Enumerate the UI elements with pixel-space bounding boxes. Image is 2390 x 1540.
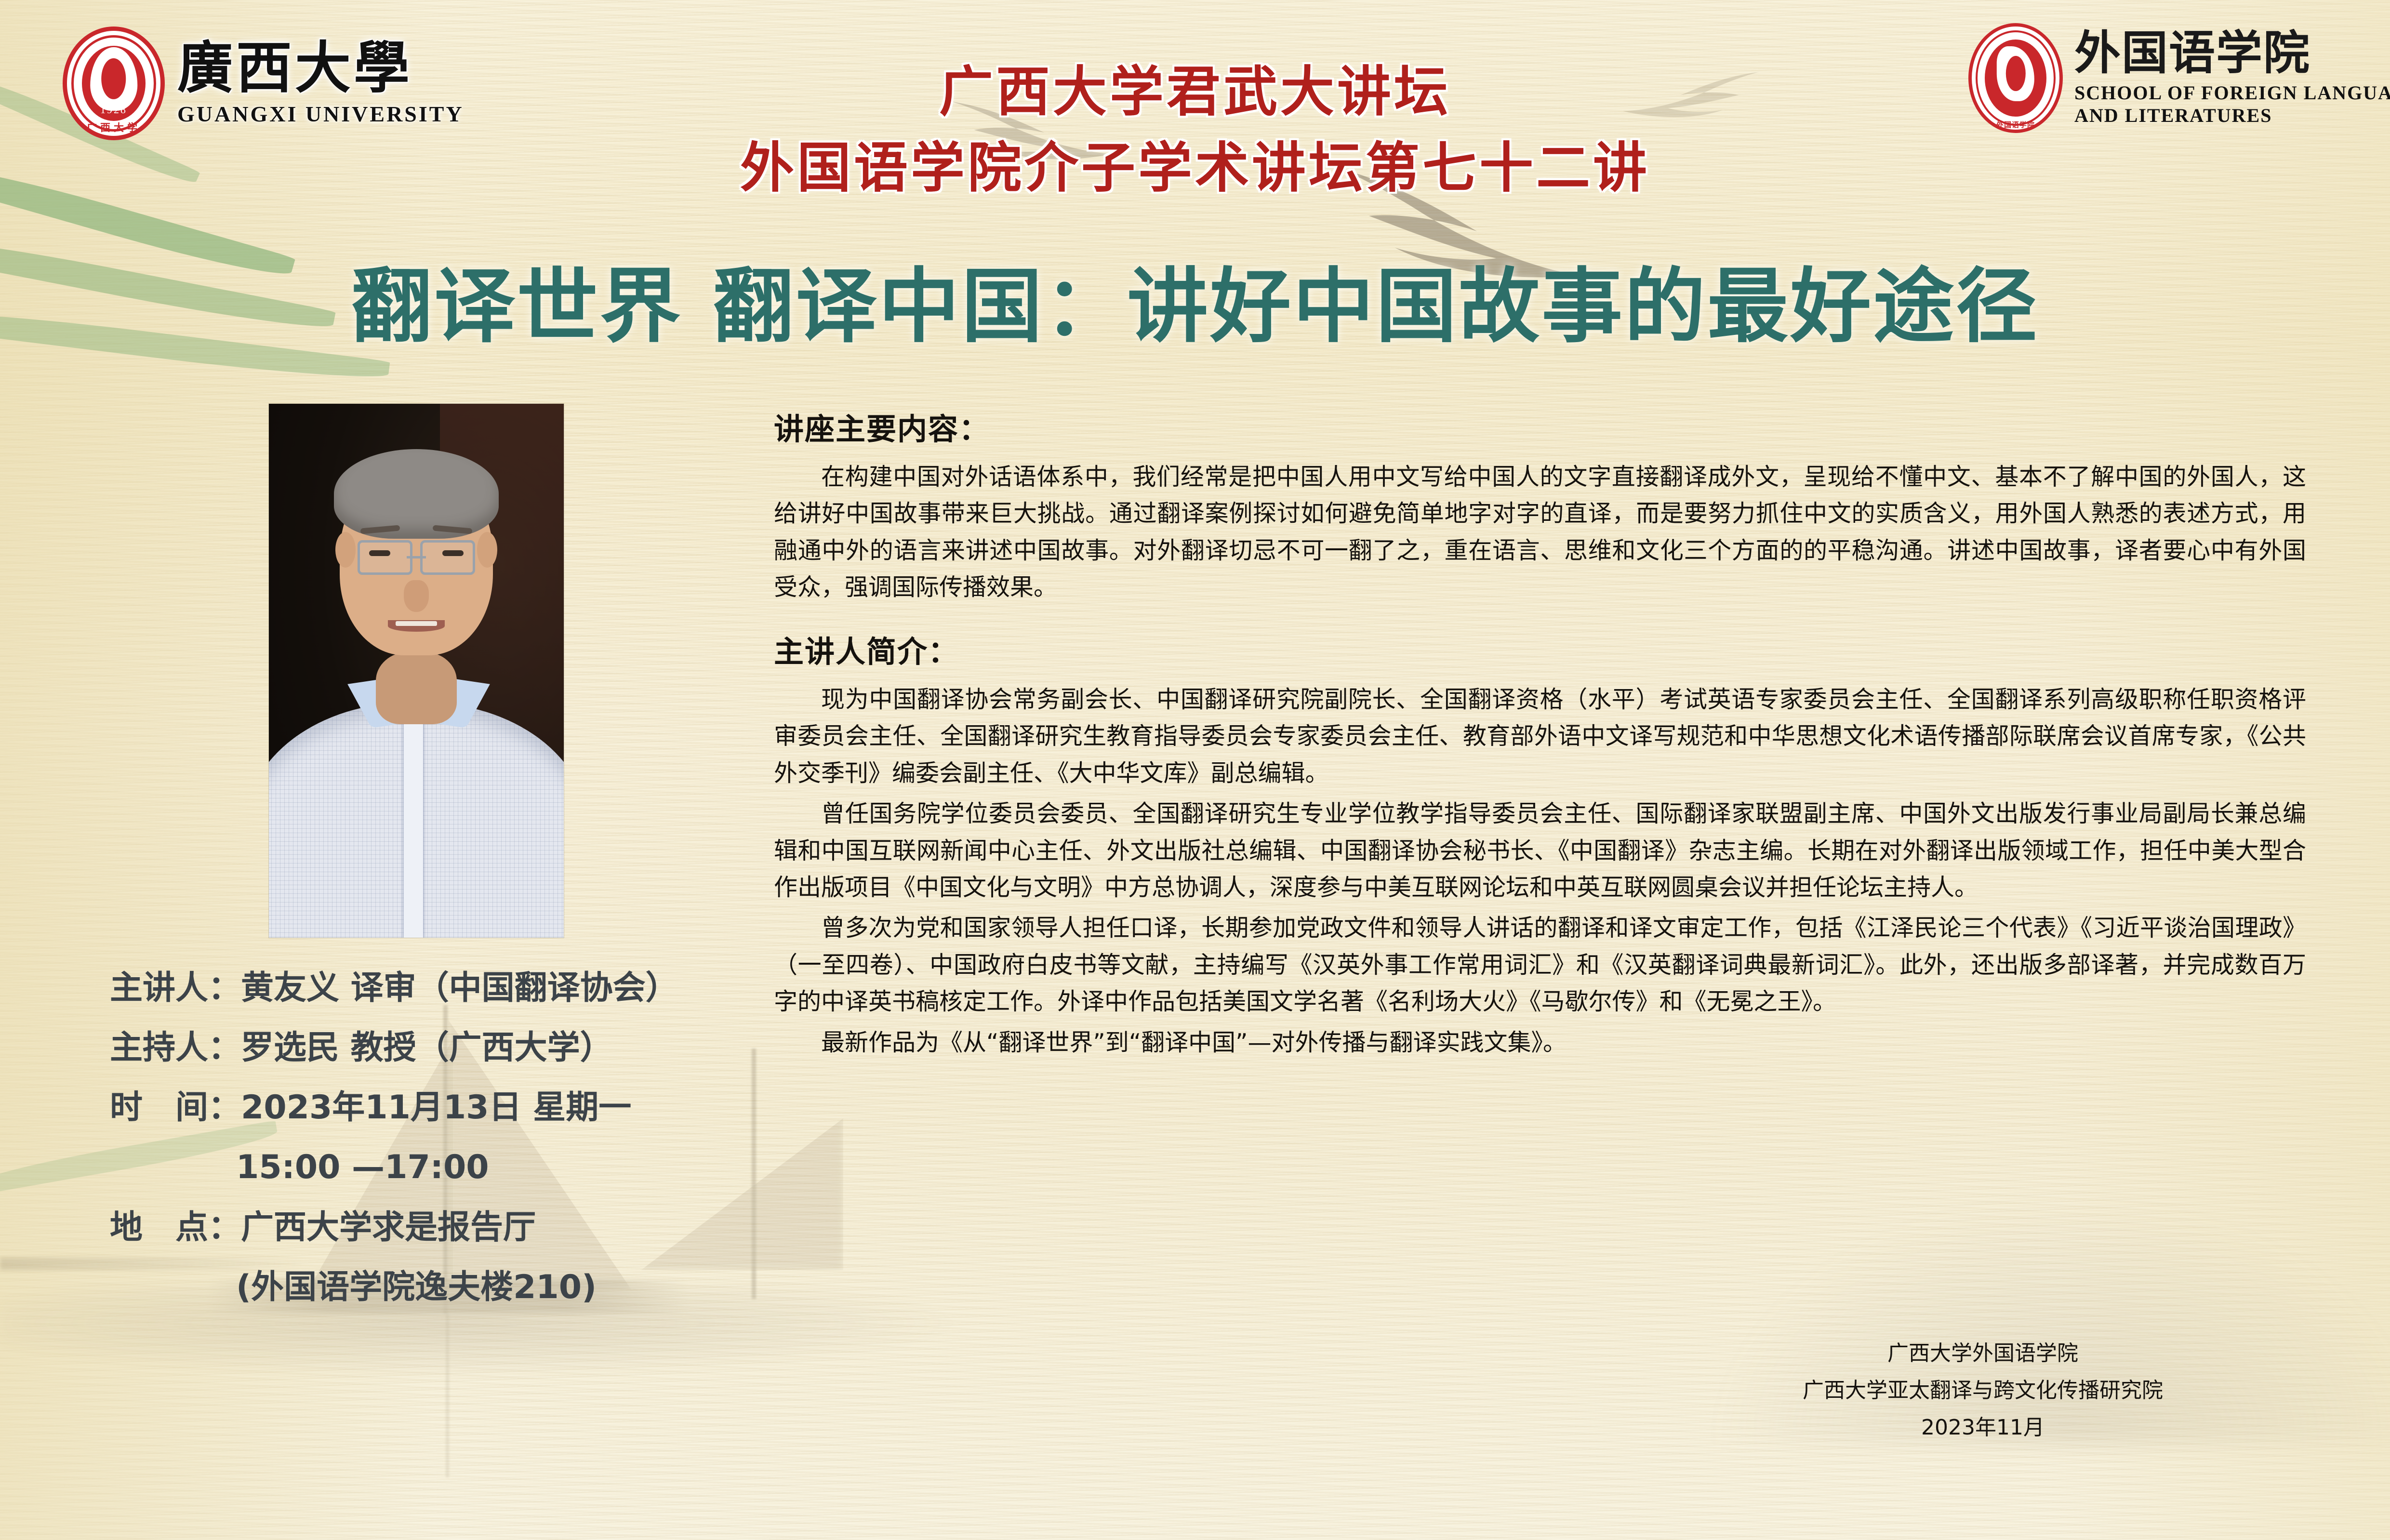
speaker-portrait-photo bbox=[269, 404, 564, 938]
place-line-second: (外国语学院逸夫楼210) bbox=[110, 1261, 746, 1314]
signoff-line1: 广西大学外国语学院 bbox=[1662, 1335, 2303, 1372]
signoff-line2: 广西大学亚太翻译与跨文化传播研究院 bbox=[1662, 1372, 2303, 1409]
speaker-bio-paragraph: 最新作品为《从“翻译世界”到“翻译中国”—对外传播与翻译实践文集》。 bbox=[774, 1024, 2306, 1061]
page-title: 翻译世界 翻译中国：讲好中国故事的最好途径 bbox=[0, 241, 2390, 358]
ink-mast bbox=[752, 1049, 756, 1299]
host-line: 主持人：罗选民 教授（广西大学） bbox=[110, 1022, 746, 1075]
speaker-bio-paragraph: 曾多次为党和国家领导人担任口译，长期参加党政文件和领导人讲话的翻译和译文审定工作… bbox=[774, 910, 2306, 1020]
speaker-line: 主讲人：黄友义 译审（中国翻译协会） bbox=[110, 962, 746, 1015]
speaker-bio-paragraph: 曾任国务院学位委员会委员、全国翻译研究生专业学位教学指导委员会主任、国际翻译家联… bbox=[774, 796, 2306, 906]
forum-header-line2: 外国语学院介子学术讲坛第七十二讲 bbox=[0, 124, 2390, 202]
lecture-content-paragraph: 在构建中国对外话语体系中，我们经常是把中国人用中文写给中国人的文字直接翻译成外文… bbox=[774, 459, 2306, 606]
signoff-line3: 2023年11月 bbox=[1662, 1409, 2303, 1446]
poster-canvas: 1928 广西大学 廣西大學 GUANGXI UNIVERSITY 外国语学院 … bbox=[0, 0, 2390, 1540]
ink-mast-reflection bbox=[446, 1314, 449, 1477]
content-column: 讲座主要内容： 在构建中国对外话语体系中，我们经常是把中国人用中文写给中国人的文… bbox=[774, 405, 2306, 1065]
speaker-bio-paragraph: 现为中国翻译协会常务副会长、中国翻译研究院副院长、全国翻译资格（水平）考试英语专… bbox=[774, 681, 2306, 792]
place-line: 地 点：广西大学求是报告厅 bbox=[110, 1201, 746, 1254]
forum-header-line1: 广西大学君武大讲坛 bbox=[0, 48, 2390, 126]
time-line: 时 间：2023年11月13日 星期一 bbox=[110, 1081, 746, 1134]
speaker-bio-heading: 主讲人简介： bbox=[774, 627, 2306, 671]
lecture-content-heading: 讲座主要内容： bbox=[774, 405, 2306, 448]
organizer-signoff: 广西大学外国语学院 广西大学亚太翻译与跨文化传播研究院 2023年11月 bbox=[1662, 1335, 2303, 1446]
time-line-second: 15:00 —17:00 bbox=[110, 1141, 746, 1194]
event-info-block: 主讲人：黄友义 译审（中国翻译协会） 主持人：罗选民 教授（广西大学） 时 间：… bbox=[110, 962, 746, 1321]
